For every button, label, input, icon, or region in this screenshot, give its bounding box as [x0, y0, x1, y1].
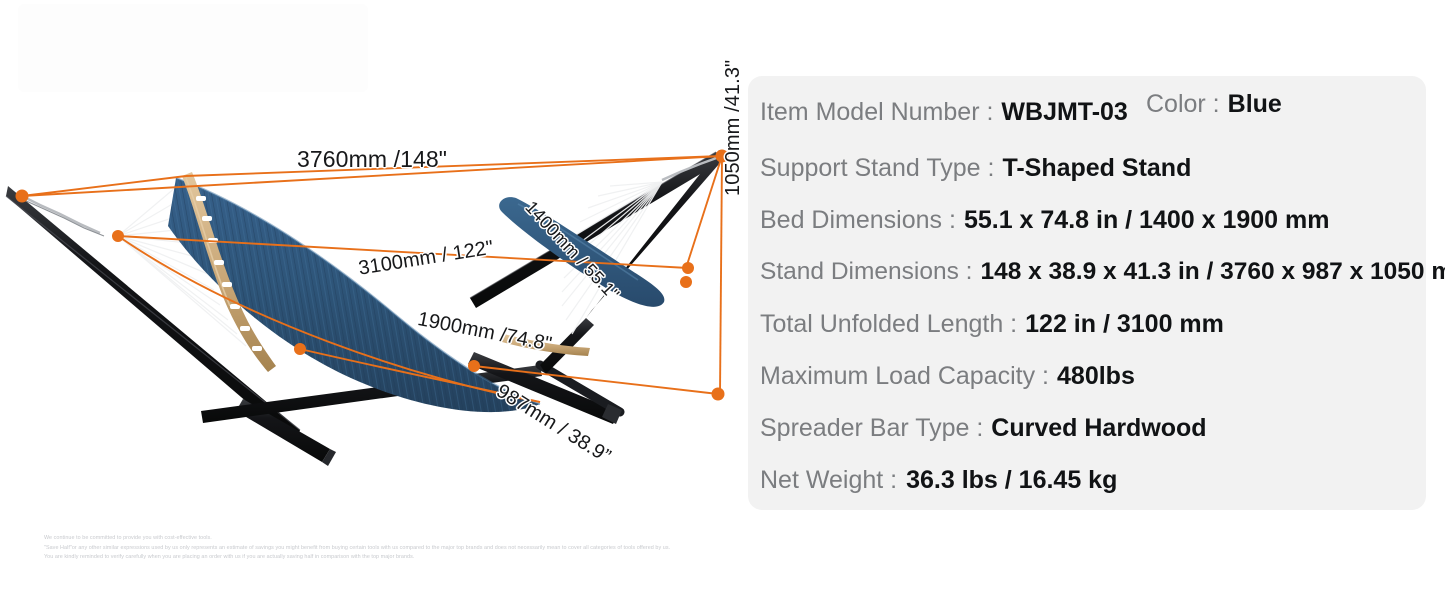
spec-row-color: Color : Blue [1146, 90, 1282, 119]
spec-row-maximum-load-capacity: Maximum Load Capacity : 480lbs [748, 362, 1426, 414]
spec-key-support-stand-type: Support Stand Type : [760, 154, 994, 183]
spec-value-net-weight: 36.3 lbs / 16.45 kg [906, 466, 1117, 495]
spec-row-model-number: Item Model Number : WBJMT-03 Color : Blu… [748, 98, 1426, 154]
product-illustration: 3760mm /148" 1400mm / 55.1" 3100mm / 122… [0, 0, 748, 520]
spec-key-bed-dimensions: Bed Dimensions : [760, 206, 956, 235]
product-spec-image: 3760mm /148" 1400mm / 55.1" 3100mm / 122… [0, 0, 1445, 592]
spec-row-total-unfolded-length: Total Unfolded Length : 122 in / 3100 mm [748, 310, 1426, 362]
spec-value-stand-dimensions: 148 x 38.9 x 41.3 in / 3760 x 987 x 1050… [980, 258, 1445, 286]
spec-key-color: Color : [1146, 90, 1220, 119]
spec-key-model-number: Item Model Number : [760, 98, 993, 127]
spec-key-net-weight: Net Weight : [760, 466, 897, 495]
disclaimer-line-2: "Save Half"or any other similar expressi… [44, 544, 1064, 554]
spec-row-net-weight: Net Weight : 36.3 lbs / 16.45 kg [748, 466, 1426, 518]
specification-panel: Item Model Number : WBJMT-03 Color : Blu… [748, 76, 1426, 510]
spec-key-maximum-load-capacity: Maximum Load Capacity : [760, 362, 1049, 391]
disclaimer-line-1: We continue to be committed to provide y… [44, 534, 1064, 544]
spec-value-maximum-load-capacity: 480lbs [1057, 362, 1135, 391]
spec-value-color: Blue [1228, 90, 1282, 119]
spec-key-total-unfolded-length: Total Unfolded Length : [760, 310, 1017, 339]
spec-value-bed-dimensions: 55.1 x 74.8 in / 1400 x 1900 mm [964, 206, 1330, 235]
disclaimer: We continue to be committed to provide y… [44, 534, 1064, 563]
spec-key-spreader-bar-type: Spreader Bar Type : [760, 414, 983, 443]
spec-value-spreader-bar-type: Curved Hardwood [991, 414, 1206, 443]
disclaimer-line-3: You are kindly reminded to verify carefu… [44, 553, 1064, 563]
spec-value-support-stand-type: T-Shaped Stand [1002, 154, 1191, 183]
dimension-label-stand-height: 1050mm /41.3" [722, 60, 745, 196]
spec-row-spreader-bar-type: Spreader Bar Type : Curved Hardwood [748, 414, 1426, 466]
spec-row-bed-dimensions: Bed Dimensions : 55.1 x 74.8 in / 1400 x… [748, 206, 1426, 258]
spec-key-stand-dimensions: Stand Dimensions : [760, 258, 972, 286]
spec-value-model-number: WBJMT-03 [1001, 98, 1127, 127]
spec-value-total-unfolded-length: 122 in / 3100 mm [1025, 310, 1224, 339]
spec-row-stand-dimensions: Stand Dimensions : 148 x 38.9 x 41.3 in … [748, 258, 1426, 310]
dimension-label-total-length: 3760mm /148" [297, 146, 447, 173]
spec-row-support-stand-type: Support Stand Type : T-Shaped Stand [748, 154, 1426, 206]
